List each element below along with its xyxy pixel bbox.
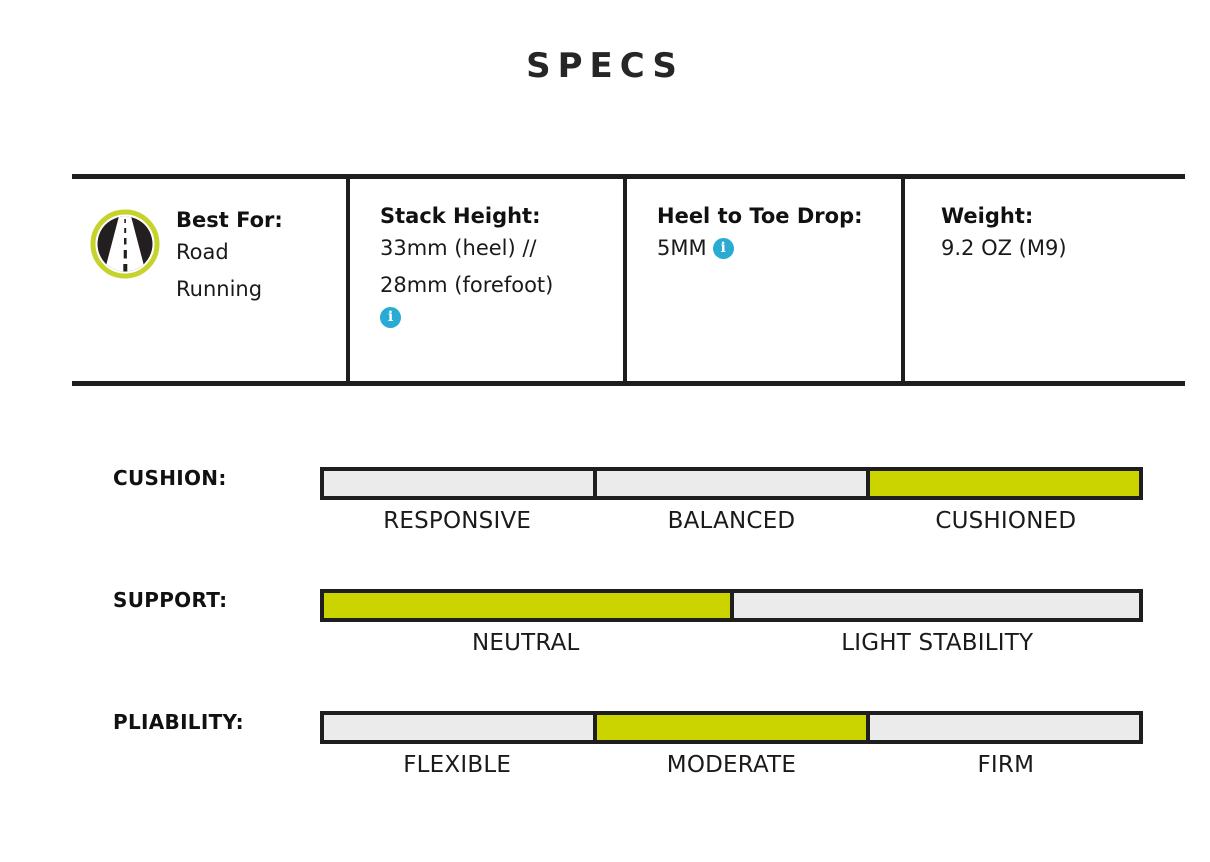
spec-column-stack-height: Stack Height: 33mm (heel) // 28mm (foref… — [350, 179, 627, 381]
rating-bar-labels: FLEXIBLE MODERATE FIRM — [320, 752, 1143, 778]
spec-column-best-for: Best For: Road Running — [72, 179, 350, 381]
info-icon[interactable]: i — [380, 307, 401, 328]
rating-segment[interactable] — [597, 471, 870, 496]
rating-bar — [320, 711, 1143, 744]
rating-row-pliability: PLIABILITY: FLEXIBLE MODERATE FIRM — [0, 696, 1210, 818]
rating-segment-label: LIGHT STABILITY — [732, 630, 1144, 656]
spec-value-line: 5MMi — [657, 230, 901, 267]
rating-label: SUPPORT: — [113, 588, 227, 612]
rating-segment[interactable] — [870, 471, 1139, 496]
road-icon — [90, 209, 160, 279]
spec-column-weight: Weight: 9.2 OZ (M9) — [905, 179, 1185, 381]
spec-value-line: 28mm (forefoot) — [380, 267, 623, 304]
spec-value-text: 5MM — [657, 236, 707, 260]
best-for-text-block: Best For: Road Running — [176, 203, 283, 381]
rating-label: CUSHION: — [113, 466, 227, 490]
rating-label: PLIABILITY: — [113, 710, 244, 734]
rating-segment-label: FLEXIBLE — [320, 752, 594, 778]
rating-segment-label: MODERATE — [594, 752, 868, 778]
info-row: i — [380, 307, 623, 328]
rating-bar-labels: NEUTRAL LIGHT STABILITY — [320, 630, 1143, 656]
rating-segment[interactable] — [870, 715, 1139, 740]
rating-segment-label: BALANCED — [594, 508, 868, 534]
spec-value-line: 9.2 OZ (M9) — [941, 230, 1185, 267]
rating-segment-label: CUSHIONED — [869, 508, 1143, 534]
rating-segment[interactable] — [734, 593, 1140, 618]
ratings-section: CUSHION: RESPONSIVE BALANCED CUSHIONED S… — [0, 452, 1210, 818]
rating-segment[interactable] — [324, 715, 597, 740]
rating-segment[interactable] — [324, 471, 597, 496]
spec-value-line: Road — [176, 234, 283, 271]
spec-heading: Best For: — [176, 207, 283, 234]
spec-column-heel-to-toe-drop: Heel to Toe Drop: 5MMi — [627, 179, 905, 381]
specs-table: Best For: Road Running Stack Height: 33m… — [72, 174, 1185, 386]
rating-segment[interactable] — [324, 593, 734, 618]
spec-heading: Stack Height: — [380, 203, 623, 230]
spec-heading: Weight: — [941, 203, 1185, 230]
rating-bar-labels: RESPONSIVE BALANCED CUSHIONED — [320, 508, 1143, 534]
info-icon[interactable]: i — [713, 238, 734, 259]
page-title: SPECS — [0, 46, 1210, 86]
rating-bar — [320, 589, 1143, 622]
rating-row-cushion: CUSHION: RESPONSIVE BALANCED CUSHIONED — [0, 452, 1210, 574]
rating-segment-label: RESPONSIVE — [320, 508, 594, 534]
rating-segment[interactable] — [597, 715, 870, 740]
spec-value-line: 33mm (heel) // — [380, 230, 623, 267]
rating-bar — [320, 467, 1143, 500]
rating-row-support: SUPPORT: NEUTRAL LIGHT STABILITY — [0, 574, 1210, 696]
spec-value-line: Running — [176, 271, 283, 308]
rating-segment-label: FIRM — [869, 752, 1143, 778]
rating-segment-label: NEUTRAL — [320, 630, 732, 656]
spec-heading: Heel to Toe Drop: — [657, 203, 901, 230]
